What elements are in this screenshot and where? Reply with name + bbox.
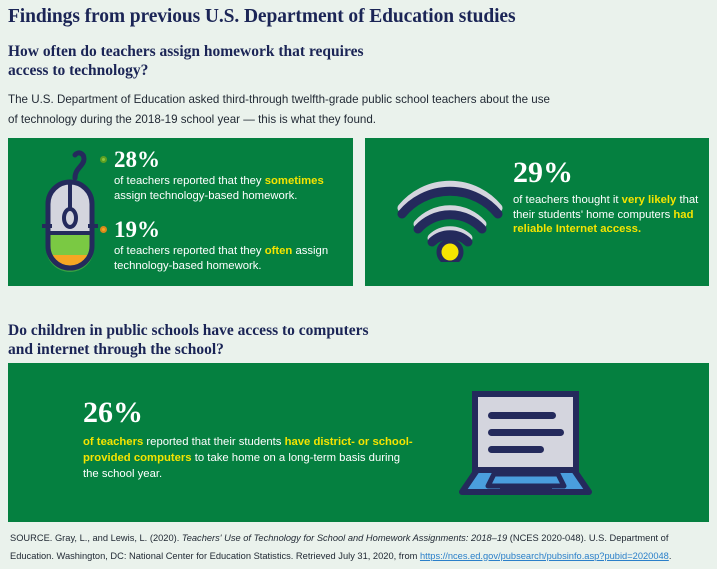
stat-28-text-part-1: of teachers reported that they bbox=[114, 175, 265, 187]
wifi-signal-icon bbox=[396, 176, 504, 262]
page-title: Findings from previous U.S. Department o… bbox=[8, 6, 515, 28]
stat-block-29-percent: 29% of teachers thought it very likely t… bbox=[513, 158, 703, 237]
stat-19-text-part-1: of teachers reported that they bbox=[114, 245, 265, 257]
stat-value-26: 26% bbox=[83, 398, 413, 428]
intro-line2: of technology during the 2018-19 school … bbox=[8, 113, 376, 126]
source-label: SOURCE. bbox=[10, 533, 52, 543]
source-citation: SOURCE. Gray, L., and Lewis, L. (2020). … bbox=[10, 530, 710, 565]
q1-heading-line1: How often do teachers assign homework th… bbox=[8, 43, 363, 60]
section-heading-homework-technology: How often do teachers assign homework th… bbox=[8, 42, 363, 80]
stat-description-26: of teachers reported that their students… bbox=[83, 434, 413, 482]
stat-29-text-part-1: of teachers thought it bbox=[513, 194, 622, 206]
stat-description-19: of teachers reported that they often ass… bbox=[114, 244, 332, 273]
stat-29-text-part-3: . bbox=[638, 223, 641, 235]
stat-29-text-highlight-1: very likely bbox=[622, 194, 677, 206]
section-heading-school-access: Do children in public schools have acces… bbox=[8, 321, 369, 359]
bullet-marker-orange-icon bbox=[100, 226, 107, 233]
stat-19-text-highlight: often bbox=[265, 245, 293, 257]
stat-block-26-percent: 26% of teachers reported that their stud… bbox=[83, 398, 413, 482]
q2-heading-line1: Do children in public schools have acces… bbox=[8, 322, 369, 339]
bullet-marker-green-icon bbox=[100, 156, 107, 163]
stat-block-19-percent: 19% of teachers reported that they often… bbox=[100, 218, 332, 273]
source-url-period: . bbox=[669, 551, 672, 561]
stat-value-28: 28% bbox=[114, 148, 332, 171]
stat-28-text-highlight: sometimes bbox=[265, 175, 324, 187]
q2-heading-line2: and internet through the school? bbox=[8, 341, 224, 358]
stat-value-29: 29% bbox=[513, 158, 703, 188]
stat-28-text-part-2: assign technology-based homework. bbox=[114, 190, 297, 202]
source-publication-title: Teachers' Use of Technology for School a… bbox=[182, 533, 507, 543]
stat-value-19: 19% bbox=[114, 218, 332, 241]
source-authors: Gray, L., and Lewis, L. (2020). bbox=[52, 533, 182, 543]
stat-description-28: of teachers reported that they sometimes… bbox=[114, 174, 332, 203]
footer-accent-bar bbox=[8, 510, 709, 522]
intro-line1: The U.S. Department of Education asked t… bbox=[8, 93, 550, 106]
stat-block-28-percent: 28% of teachers reported that they somet… bbox=[100, 148, 332, 203]
computer-mouse-icon bbox=[34, 148, 104, 280]
stat-26-text-highlight-1: of teachers bbox=[83, 436, 143, 448]
q1-heading-line2: access to technology? bbox=[8, 62, 148, 79]
intro-paragraph: The U.S. Department of Education asked t… bbox=[8, 90, 698, 130]
stat-description-29: of teachers thought it very likely that … bbox=[513, 193, 703, 237]
stat-26-text-part-1: reported that their students bbox=[143, 436, 284, 448]
laptop-computer-icon bbox=[448, 388, 598, 500]
source-url-link[interactable]: https://nces.ed.gov/pubsearch/pubsinfo.a… bbox=[420, 551, 669, 561]
infographic-page: Findings from previous U.S. Department o… bbox=[0, 0, 717, 569]
